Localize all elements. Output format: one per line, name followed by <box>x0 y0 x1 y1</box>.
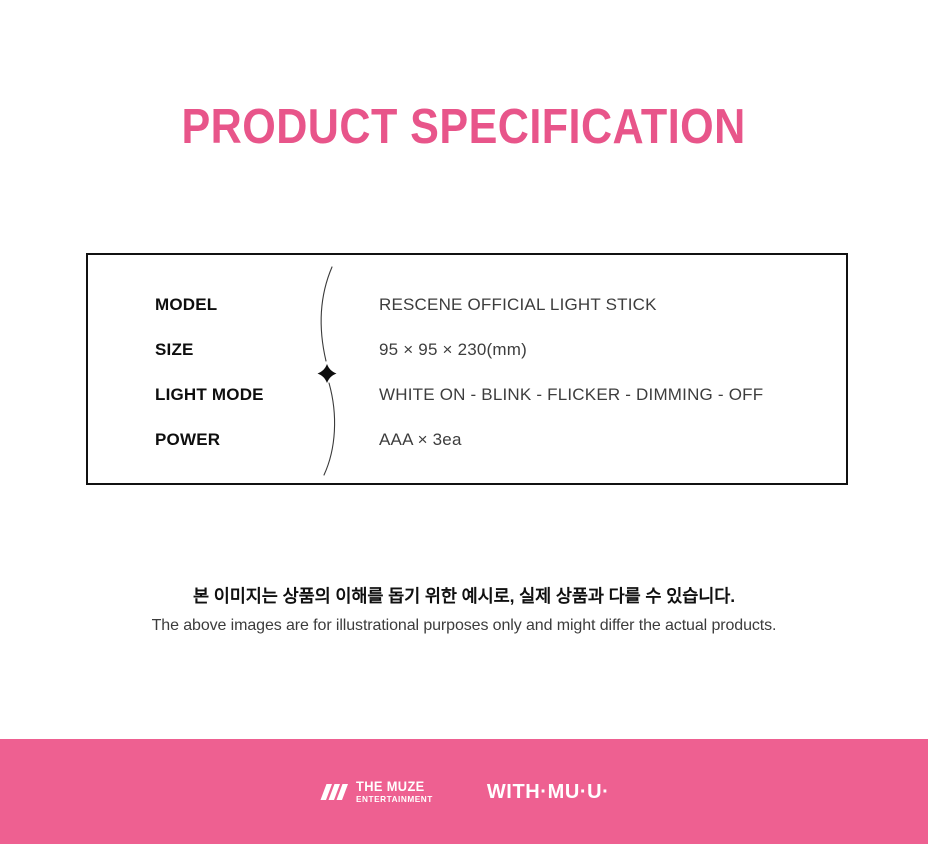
spec-value-size: 95 × 95 × 230(mm) <box>379 337 527 363</box>
spec-label-size: SIZE <box>155 337 194 363</box>
spec-label-power: POWER <box>155 427 220 453</box>
spec-table-rows: MODEL RESCENE OFFICIAL LIGHT STICK SIZE … <box>88 255 846 483</box>
page-title: PRODUCT SPECIFICATION <box>182 98 746 156</box>
spec-row-model: MODEL RESCENE OFFICIAL LIGHT STICK <box>88 292 846 318</box>
spec-value-light-mode: WHITE ON - BLINK - FLICKER - DIMMING - O… <box>379 382 763 408</box>
spec-value-model: RESCENE OFFICIAL LIGHT STICK <box>379 292 657 318</box>
spec-row-size: SIZE 95 × 95 × 230(mm) <box>88 337 846 363</box>
spec-label-model: MODEL <box>155 292 217 318</box>
disclaimer-english: The above images are for illustrational … <box>0 614 928 638</box>
page-title-container: PRODUCT SPECIFICATION <box>0 98 928 156</box>
spec-label-light-mode: LIGHT MODE <box>155 382 264 408</box>
logo-with-muu: WITH·MU·U· <box>487 782 610 802</box>
spec-value-power: AAA × 3ea <box>379 427 462 453</box>
logo-the-muze-entertainment: THE MUZE ENTERTAINMENT <box>319 780 435 804</box>
three-slanted-bars-mark-icon <box>319 783 349 801</box>
spec-table: MODEL RESCENE OFFICIAL LIGHT STICK SIZE … <box>86 253 848 485</box>
product-specification-page: PRODUCT SPECIFICATION MODEL RESCENE OFFI… <box>0 0 928 844</box>
spec-row-power: POWER AAA × 3ea <box>88 427 846 453</box>
footer-band: THE MUZE ENTERTAINMENT WITH·MU·U· <box>0 739 928 844</box>
spec-row-light-mode: LIGHT MODE WHITE ON - BLINK - FLICKER - … <box>88 382 846 408</box>
muze-wordmark-line2: ENTERTAINMENT <box>356 795 433 804</box>
footer-logos: THE MUZE ENTERTAINMENT WITH·MU·U· <box>0 739 928 844</box>
muze-wordmark-line1: THE MUZE <box>356 780 425 794</box>
disclaimer-korean: 본 이미지는 상품의 이해를 돕기 위한 예시로, 실제 상품과 다를 수 있습… <box>0 583 928 609</box>
muze-wordmark: THE MUZE ENTERTAINMENT <box>356 780 435 804</box>
